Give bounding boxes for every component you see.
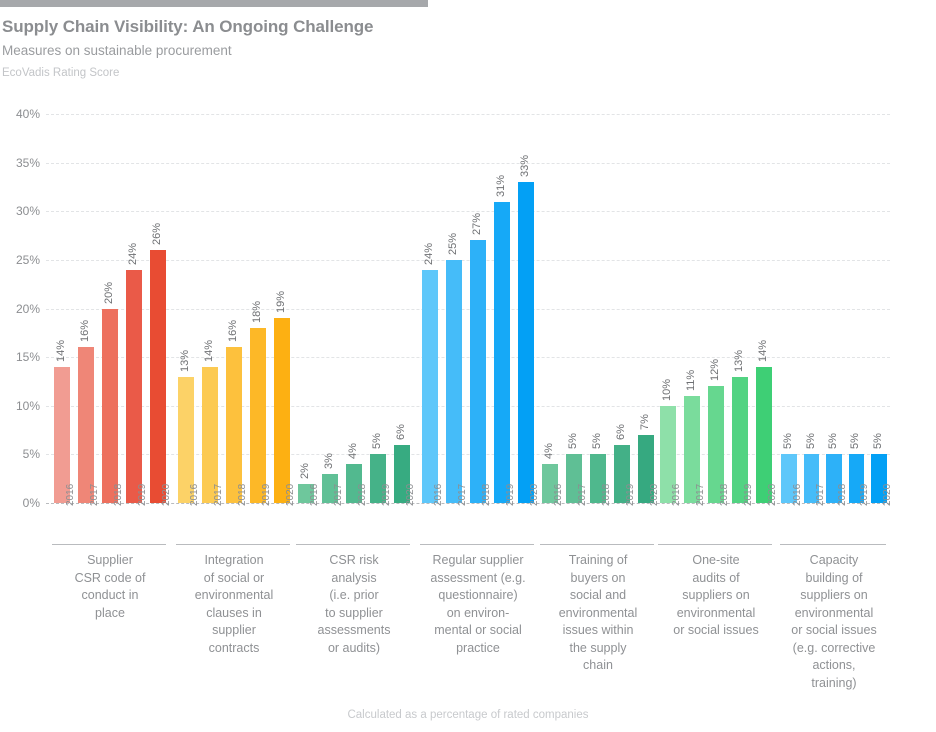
year-tick: 2020 (162, 484, 172, 506)
bar[interactable] (422, 270, 439, 503)
chart-subtitle: Measures on sustainable procurement (2, 43, 702, 59)
bar-value-label: 7% (640, 414, 651, 430)
y-axis-tick: 5% (0, 448, 40, 460)
category-label-line: Capacity (810, 553, 859, 567)
bar-group: 5%5%5%5%5% (778, 104, 890, 504)
category-label: Capacitybuilding ofsuppliers onenvironme… (778, 552, 890, 692)
x-axis-group: 20162017201820192020SupplierCSR code ofc… (50, 504, 170, 542)
year-tick-row: 20162017201820192020 (778, 504, 890, 542)
y-axis-tick: 10% (0, 400, 40, 412)
category-label-line: environmental (195, 588, 274, 602)
year-tick: 2018 (602, 484, 612, 506)
category-label-line: One-site (692, 553, 739, 567)
bar-value-label: 14% (204, 340, 215, 362)
bar[interactable] (756, 367, 773, 503)
bar-value-label: 14% (758, 340, 769, 362)
title-block: Supply Chain Visibility: An Ongoing Chal… (2, 17, 702, 80)
chart-source-label: EcoVadis Rating Score (2, 66, 702, 80)
year-tick: 2020 (768, 484, 778, 506)
year-tick: 2019 (744, 484, 754, 506)
category-label-line: audits of (692, 571, 739, 585)
y-axis-tick: 30% (0, 205, 40, 217)
category-label-line: of social or (204, 571, 264, 585)
category-label-line: Regular supplier (432, 553, 523, 567)
x-axis-group: 20162017201820192020CSR riskanalysis(i.e… (294, 504, 414, 542)
year-tick: 2017 (578, 484, 588, 506)
year-tick: 2019 (382, 484, 392, 506)
bar[interactable] (126, 270, 143, 503)
header-accent-bar (0, 0, 428, 7)
year-tick-row: 20162017201820192020 (174, 504, 294, 542)
bar-value-label: 4% (348, 443, 359, 459)
year-tick-row: 20162017201820192020 (538, 504, 658, 542)
bar[interactable] (78, 347, 95, 503)
category-label-line: (i.e. prior (329, 588, 378, 602)
category-label-line: on environ- (447, 606, 510, 620)
category-label-line: place (95, 606, 125, 620)
year-tick: 2018 (838, 484, 848, 506)
bar-value-label: 26% (152, 223, 163, 245)
chart-footnote: Calculated as a percentage of rated comp… (0, 708, 936, 722)
category-label-line: the supply (570, 641, 627, 655)
bar-value-label: 16% (228, 320, 239, 342)
category-label: CSR riskanalysis(i.e. priorto supplieras… (294, 552, 414, 657)
bar[interactable] (102, 309, 119, 504)
category-label-line: CSR code of (75, 571, 146, 585)
bar-value-label: 4% (544, 443, 555, 459)
bar-value-label: 25% (448, 233, 459, 255)
category-label-line: training) (811, 676, 856, 690)
bar-value-label: 10% (662, 379, 673, 401)
bar-value-label: 6% (616, 424, 627, 440)
bar-value-label: 5% (806, 433, 817, 449)
y-axis-tick: 35% (0, 157, 40, 169)
year-tick: 2020 (406, 484, 416, 506)
category-label-line: suppliers on (682, 588, 749, 602)
y-axis-tick: 40% (0, 108, 40, 120)
category-label-line: or audits) (328, 641, 380, 655)
category-label-line: suppliers on (800, 588, 867, 602)
bar[interactable] (470, 240, 487, 503)
bar-value-label: 24% (424, 243, 435, 265)
year-tick: 2016 (66, 484, 76, 506)
year-tick: 2018 (358, 484, 368, 506)
category-label-line: environmental (559, 606, 638, 620)
x-axis-group: 20162017201820192020Integrationof social… (174, 504, 294, 542)
year-tick: 2018 (238, 484, 248, 506)
bar-value-label: 13% (734, 350, 745, 372)
year-tick: 2016 (672, 484, 682, 506)
year-tick-row: 20162017201820192020 (656, 504, 776, 542)
bar-group: 13%14%16%18%19% (174, 104, 294, 504)
bar-value-label: 5% (568, 433, 579, 449)
category-label-line: CSR risk (329, 553, 378, 567)
category-label-line: buyers on (571, 571, 626, 585)
bar-value-label: 5% (828, 433, 839, 449)
bar[interactable] (202, 367, 219, 503)
chart-x-axis: 20162017201820192020SupplierCSR code ofc… (46, 504, 890, 730)
group-divider (420, 544, 534, 545)
bar-value-label: 13% (180, 350, 191, 372)
category-label-line: assessment (e.g. (430, 571, 525, 585)
year-tick: 2017 (334, 484, 344, 506)
group-divider (658, 544, 772, 545)
bar-value-label: 12% (710, 359, 721, 381)
category-label-line: supplier (212, 623, 256, 637)
bar[interactable] (446, 260, 463, 503)
category-label-line: issues within (563, 623, 634, 637)
y-axis-tick: 0% (0, 497, 40, 509)
category-label-line: Integration (204, 553, 263, 567)
category-label-line: clauses in (206, 606, 262, 620)
year-tick: 2018 (482, 484, 492, 506)
category-label: Integrationof social orenvironmentalclau… (174, 552, 294, 657)
bar-value-label: 14% (56, 340, 67, 362)
category-label-line: to supplier (325, 606, 383, 620)
year-tick: 2020 (286, 484, 296, 506)
page-title: Supply Chain Visibility: An Ongoing Chal… (2, 17, 702, 37)
bar-value-label: 27% (472, 213, 483, 235)
year-tick: 2019 (138, 484, 148, 506)
year-tick: 2019 (860, 484, 870, 506)
year-tick: 2016 (793, 484, 803, 506)
category-label-line: or social issues (791, 623, 876, 637)
category-label-line: environmental (677, 606, 756, 620)
bar-value-label: 5% (592, 433, 603, 449)
category-label-line: assessments (318, 623, 391, 637)
bar-value-label: 24% (128, 243, 139, 265)
year-tick: 2016 (310, 484, 320, 506)
year-tick: 2017 (696, 484, 706, 506)
category-label-line: chain (583, 658, 613, 672)
bar[interactable] (250, 328, 267, 503)
year-tick-row: 20162017201820192020 (50, 504, 170, 542)
year-tick: 2020 (650, 484, 660, 506)
category-label-line: practice (456, 641, 500, 655)
bar-value-label: 18% (252, 301, 263, 323)
bar[interactable] (518, 182, 535, 503)
bar-group: 10%11%12%13%14% (656, 104, 776, 504)
bar[interactable] (226, 347, 243, 503)
bar-group: 4%5%5%6%7% (538, 104, 658, 504)
year-tick-row: 20162017201820192020 (418, 504, 538, 542)
year-tick-row: 20162017201820192020 (294, 504, 414, 542)
year-tick: 2019 (262, 484, 272, 506)
chart-bars: 14%16%20%24%26%13%14%16%18%19%2%3%4%5%6%… (46, 104, 890, 504)
bar-group: 14%16%20%24%26% (50, 104, 170, 504)
bar-value-label: 19% (276, 291, 287, 313)
bar-value-label: 5% (873, 433, 884, 449)
chart-plot-area: 0%5%10%15%20%25%30%35%40% 14%16%20%24%26… (0, 104, 936, 504)
bar[interactable] (150, 250, 167, 503)
category-label: One-siteaudits ofsuppliers onenvironment… (656, 552, 776, 640)
category-label: SupplierCSR code ofconduct inplace (50, 552, 170, 622)
bar[interactable] (54, 367, 71, 503)
bar-value-label: 31% (496, 175, 507, 197)
category-label-line: questionnaire) (438, 588, 517, 602)
category-label-line: social and (570, 588, 626, 602)
y-axis-tick: 20% (0, 303, 40, 315)
year-tick: 2019 (626, 484, 636, 506)
year-tick: 2017 (458, 484, 468, 506)
year-tick: 2016 (554, 484, 564, 506)
category-label: Training ofbuyers onsocial andenvironmen… (538, 552, 658, 675)
year-tick: 2016 (434, 484, 444, 506)
group-divider (780, 544, 886, 545)
year-tick: 2017 (816, 484, 826, 506)
y-axis-tick: 15% (0, 351, 40, 363)
category-label-line: (e.g. corrective (793, 641, 876, 655)
bar[interactable] (494, 202, 511, 503)
bar-value-label: 6% (396, 424, 407, 440)
x-axis-group: 20162017201820192020Training ofbuyers on… (538, 504, 658, 542)
category-label-line: Training of (569, 553, 628, 567)
y-axis-tick: 25% (0, 254, 40, 266)
category-label-line: building of (806, 571, 863, 585)
group-divider (176, 544, 290, 545)
year-tick: 2018 (114, 484, 124, 506)
bar-group: 24%25%27%31%33% (418, 104, 538, 504)
year-tick: 2020 (530, 484, 540, 506)
year-tick: 2020 (883, 484, 893, 506)
year-tick: 2019 (506, 484, 516, 506)
bar-value-label: 33% (520, 155, 531, 177)
year-tick: 2017 (90, 484, 100, 506)
group-divider (296, 544, 410, 545)
x-axis-group: 20162017201820192020One-siteaudits ofsup… (656, 504, 776, 542)
group-divider (52, 544, 166, 545)
category-label-line: actions, (812, 658, 855, 672)
category-label-line: mental or social (434, 623, 522, 637)
year-tick: 2016 (190, 484, 200, 506)
bar-value-label: 5% (372, 433, 383, 449)
bar-value-label: 16% (80, 320, 91, 342)
category-label-line: analysis (331, 571, 376, 585)
bar-value-label: 5% (850, 433, 861, 449)
category-label-line: contracts (209, 641, 260, 655)
bar[interactable] (274, 318, 291, 503)
bar-value-label: 2% (300, 463, 311, 479)
bar-value-label: 3% (324, 453, 335, 469)
category-label-line: conduct in (82, 588, 139, 602)
year-tick: 2018 (720, 484, 730, 506)
category-label-line: environmental (795, 606, 874, 620)
group-divider (540, 544, 654, 545)
bar-value-label: 11% (686, 370, 697, 391)
category-label-line: or social issues (673, 623, 758, 637)
category-label-line: Supplier (87, 553, 133, 567)
bar-value-label: 5% (783, 433, 794, 449)
year-tick: 2017 (214, 484, 224, 506)
bar-value-label: 20% (104, 281, 115, 303)
x-axis-group: 20162017201820192020Capacitybuilding ofs… (778, 504, 890, 542)
bar-group: 2%3%4%5%6% (294, 104, 414, 504)
category-label: Regular supplierassessment (e.g.question… (418, 552, 538, 657)
x-axis-group: 20162017201820192020Regular supplierasse… (418, 504, 538, 542)
